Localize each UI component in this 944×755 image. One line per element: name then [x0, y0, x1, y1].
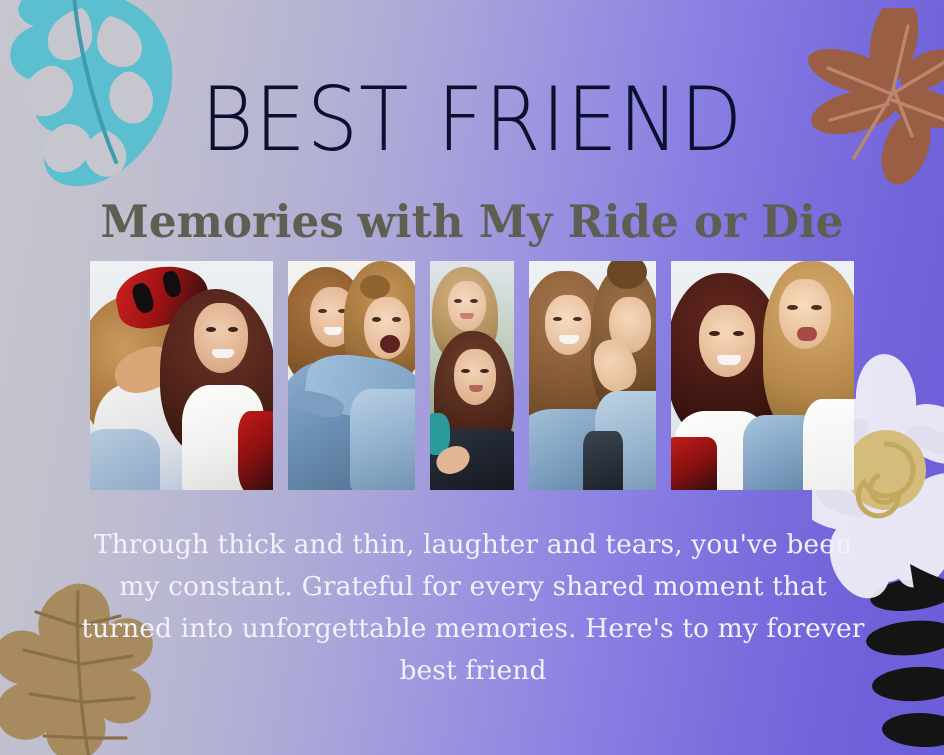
quote-text: Through thick and thin, laughter and tea…: [78, 524, 868, 692]
photo-item: [529, 261, 656, 490]
photo-item: [430, 261, 514, 490]
best-friend-poster: BESTFRIEND Memorieswith My Ride or Die: [0, 0, 944, 755]
title-word-friend: FRIEND: [437, 68, 743, 171]
frond-leaf-icon: [856, 580, 944, 755]
title-word-best: BEST: [201, 68, 410, 171]
photo-strip: [90, 261, 856, 490]
photo-item: [671, 261, 854, 490]
photo-item: [90, 261, 273, 490]
photo-item: [288, 261, 415, 490]
page-subtitle: Memorieswith My Ride or Die: [14, 199, 930, 244]
subtitle-part-two: with My Ride or Die: [357, 195, 843, 248]
subtitle-part-one: Memories: [101, 195, 344, 248]
page-title: BESTFRIEND: [38, 76, 906, 164]
